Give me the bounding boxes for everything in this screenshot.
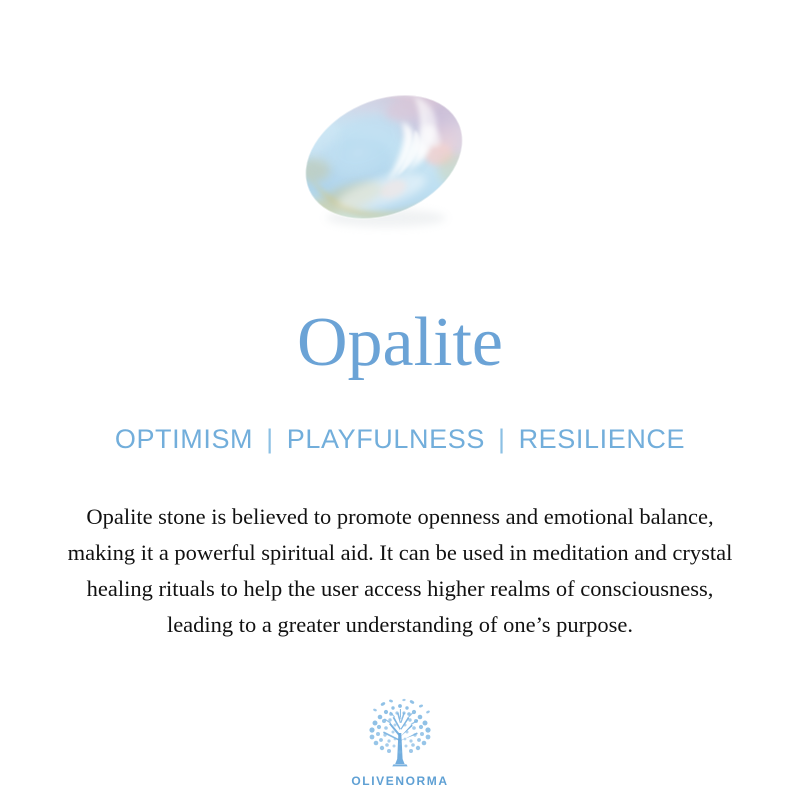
hero-image-area	[0, 0, 800, 300]
keyword-playfulness: PLAYFULNESS	[287, 424, 485, 455]
opalite-stone-graphic	[296, 78, 472, 236]
opalite-info-card: Opalite OPTIMISM | PLAYFULNESS | RESILIE…	[0, 0, 800, 800]
page-title: Opalite	[297, 300, 503, 378]
description-paragraph: Opalite stone is believed to promote ope…	[20, 499, 780, 643]
keyword-optimism: OPTIMISM	[115, 424, 253, 455]
keyword-separator-1: |	[253, 424, 287, 455]
logo-wordmark: OLIVENORMA	[351, 774, 448, 788]
description-line-4: leading to a greater understanding of on…	[20, 607, 780, 643]
keyword-list: OPTIMISM | PLAYFULNESS | RESILIENCE	[115, 424, 685, 455]
opalite-stone-image	[296, 78, 472, 236]
description-line-2: making it a powerful spiritual aid. It c…	[20, 535, 780, 571]
tree-of-life-icon	[357, 697, 443, 773]
brand-logo: OLIVENORMA	[0, 697, 800, 788]
keyword-separator-2: |	[485, 424, 519, 455]
description-line-1: Opalite stone is believed to promote ope…	[20, 499, 780, 535]
description-line-3: healing rituals to help the user access …	[20, 571, 780, 607]
keyword-resilience: RESILIENCE	[519, 424, 686, 455]
